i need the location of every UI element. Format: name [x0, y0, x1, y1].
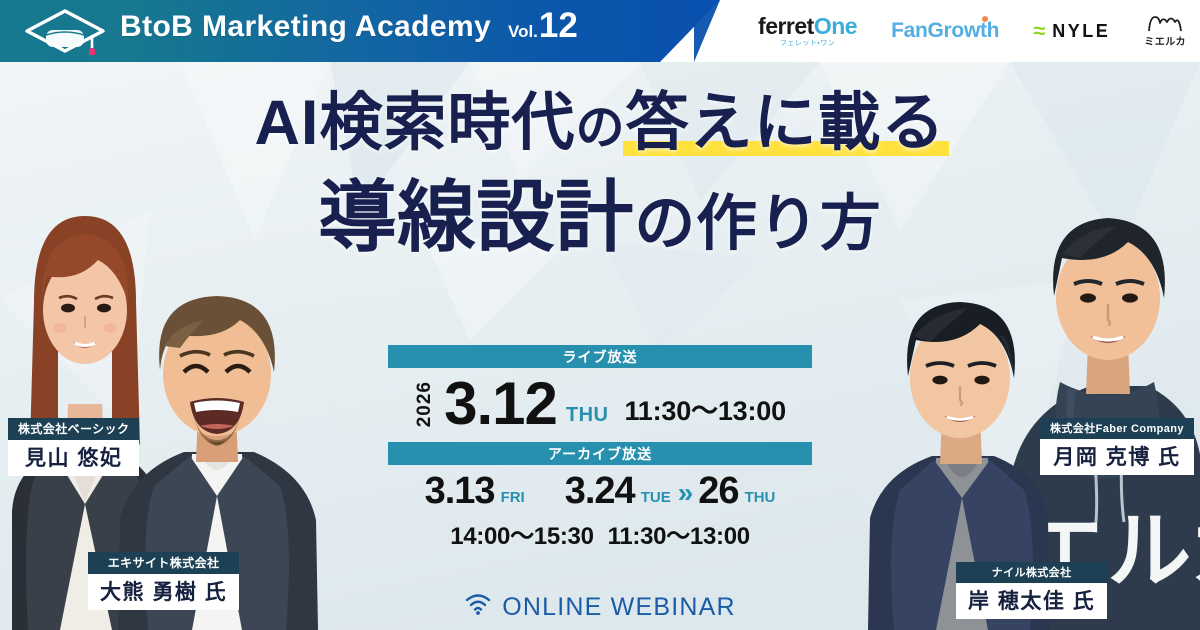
archive-section-bar: アーカイブ放送 — [388, 442, 812, 465]
nameplate-mikyama: 株式会社ベーシック 見山 悠妃 — [8, 418, 139, 476]
nameplate-mikyama-person: 見山 悠妃 — [8, 440, 139, 476]
archive-2-date-start: 3.24 — [565, 473, 635, 509]
volume-indicator: Vol. 12 — [508, 8, 578, 43]
nameplate-kishi-person: 岸 穂太佳 氏 — [956, 583, 1107, 619]
partner-logos: ferretOne フェレット・ワン FanGrowth ≈ NYLE ミエルカ — [758, 0, 1186, 62]
live-time: 11:30〜13:00 — [624, 389, 785, 428]
archive-section-label: アーカイブ放送 — [548, 444, 652, 464]
archive-1-day-of-week: FRI — [501, 489, 525, 506]
mieruca-logo-text: ミエルカ — [1144, 38, 1186, 48]
ferret-one-logo-sub: フェレット・ワン — [780, 40, 835, 47]
archive-2-time: 11:30〜13:00 — [608, 516, 750, 551]
nameplate-okuma-person: 大熊 勇樹 氏 — [88, 574, 239, 610]
archive-2-day-of-week-end: THU — [745, 489, 776, 506]
live-date-row: 2026 3.12 THU 11:30〜13:00 — [388, 368, 812, 437]
archive-time-row: 14:00〜15:30 11:30〜13:00 — [388, 516, 812, 551]
volume-label: Vol. — [508, 22, 538, 42]
nyle-logo-mark-icon: ≈ — [1033, 20, 1045, 42]
schedule-block: ライブ放送 2026 3.12 THU 11:30〜13:00 アーカイブ放送 … — [388, 345, 812, 551]
nameplate-tsukioka: 株式会社Faber Company 月岡 克博 氏 — [1040, 418, 1194, 475]
nameplate-kishi-company: ナイル株式会社 — [956, 562, 1107, 583]
nameplate-tsukioka-person: 月岡 克博 氏 — [1040, 439, 1194, 475]
mieruca-logo: ミエルカ — [1144, 14, 1186, 48]
ferret-one-logo-main: ferret — [758, 13, 814, 39]
archive-2-day-of-week-start: TUE — [641, 489, 671, 506]
nameplate-kishi: ナイル株式会社 岸 穂太佳 氏 — [956, 562, 1107, 619]
header-gradient-wedge — [694, 0, 734, 62]
nameplate-tsukioka-company: 株式会社Faber Company — [1040, 418, 1194, 439]
header-bar: BtoB Marketing Academy Vol. 12 ferretOne… — [0, 0, 1200, 62]
ferret-one-logo-accent: One — [814, 13, 857, 39]
archive-1-date: 3.13 — [425, 473, 495, 509]
nyle-logo-text: NYLE — [1052, 21, 1110, 42]
ferret-one-logo: ferretOne フェレット・ワン — [758, 15, 857, 47]
nyle-logo: ≈ NYLE — [1033, 20, 1110, 42]
nameplate-mikyama-company: 株式会社ベーシック — [8, 418, 139, 440]
header-title: BtoB Marketing Academy — [120, 10, 491, 44]
graduation-cap-icon — [22, 7, 108, 60]
live-section-label: ライブ放送 — [563, 347, 638, 367]
nameplate-okuma-company: エキサイト株式会社 — [88, 552, 239, 574]
archive-entry-2: 3.24 TUE » 26 THU — [565, 473, 776, 509]
live-year: 2026 — [414, 381, 436, 427]
volume-number: 12 — [539, 8, 578, 43]
archive-1-time: 14:00〜15:30 — [450, 516, 593, 551]
archive-2-date-end: 26 — [698, 473, 738, 509]
online-webinar-label: ONLINE WEBINAR — [502, 593, 736, 622]
date-range-chevron-icon: » — [678, 479, 694, 507]
live-day-of-week: THU — [566, 404, 609, 427]
archive-date-row: 3.13 FRI 3.24 TUE » 26 THU — [388, 465, 812, 509]
wifi-icon — [464, 593, 492, 622]
live-date: 3.12 — [444, 376, 557, 431]
live-section-bar: ライブ放送 — [388, 345, 812, 368]
mieruca-logo-cat-icon — [1146, 14, 1184, 36]
fangrowth-logo-text: FanGrowth — [891, 19, 999, 42]
webinar-banner: ミエルカ — [0, 0, 1200, 630]
archive-entry-1: 3.13 FRI — [425, 473, 525, 509]
fangrowth-logo: FanGrowth — [891, 19, 999, 43]
nameplate-okuma: エキサイト株式会社 大熊 勇樹 氏 — [88, 552, 239, 610]
